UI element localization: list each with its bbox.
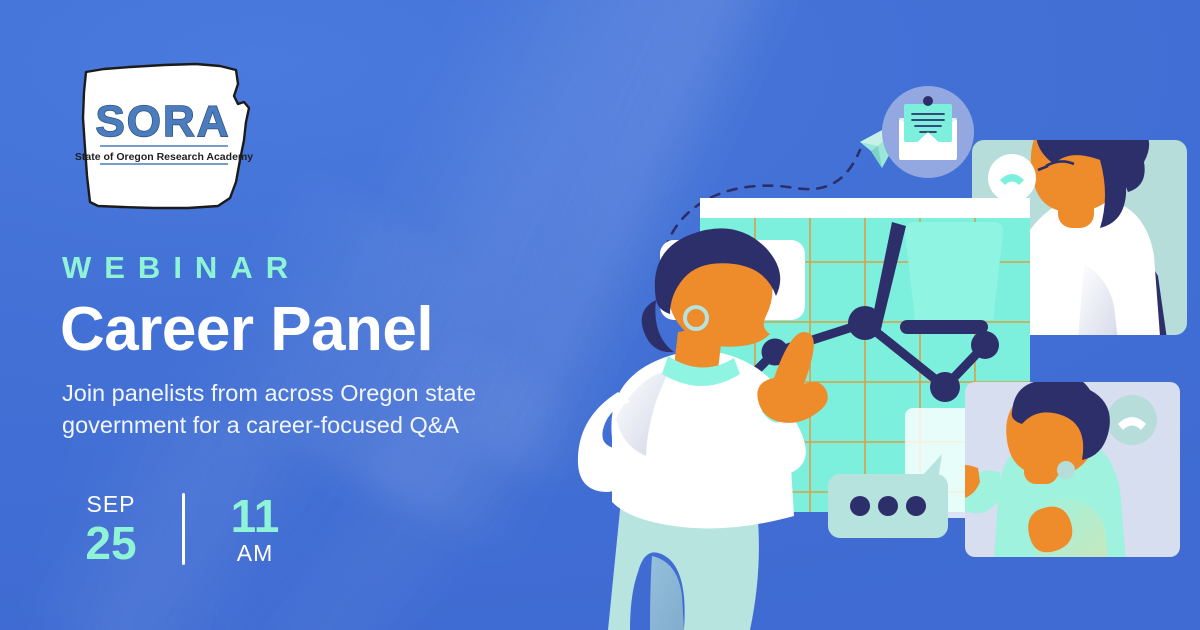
subtitle-text: Join panelists from across Oregon state …	[62, 378, 582, 441]
chart-point	[848, 306, 882, 340]
event-meridiem: AM	[207, 542, 303, 565]
envelope-badge-icon	[882, 86, 974, 178]
sora-logo: SORA State of Oregon Research Academy	[68, 56, 258, 216]
logo-fullname: State of Oregon Research Academy	[75, 151, 253, 163]
typing-dot	[850, 496, 870, 516]
event-day: 25	[62, 520, 160, 566]
chart-point	[930, 372, 960, 402]
typing-dot	[906, 496, 926, 516]
datetime-divider	[182, 493, 185, 565]
webinar-illustration	[560, 0, 1200, 630]
eyebrow-label: WEBINAR	[62, 252, 301, 283]
event-month: SEP	[62, 493, 160, 516]
event-datetime: SEP 25 11 AM	[62, 486, 303, 572]
webinar-promo-banner: SORA State of Oregon Research Academy WE…	[0, 0, 1200, 630]
event-time: 11 AM	[207, 493, 303, 565]
chart-point	[971, 331, 999, 359]
page-title: Career Panel	[60, 294, 433, 365]
typing-dot	[878, 496, 898, 516]
logo-acronym: SORA	[95, 97, 230, 146]
video-tile-participant-bottom	[932, 376, 1180, 560]
event-date: SEP 25	[62, 493, 160, 566]
event-hour: 11	[207, 493, 303, 539]
